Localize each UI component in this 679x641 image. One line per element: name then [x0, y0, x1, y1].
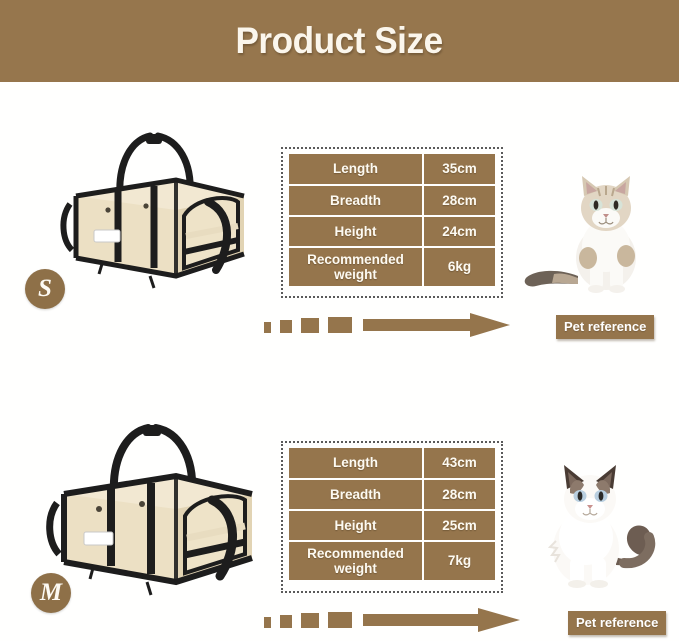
spec-value: 7kg [424, 542, 495, 580]
spec-label: Breadth [289, 480, 422, 509]
spec-value: 24cm [424, 217, 495, 246]
spec-label: Recommended weight [289, 542, 422, 580]
table-row: Recommended weight 7kg [289, 542, 495, 580]
table-row: Breadth 28cm [289, 480, 495, 509]
spec-value: 35cm [424, 154, 495, 184]
header-banner: Product Size [0, 0, 679, 82]
spec-label: Length [289, 448, 422, 478]
pet-reference-image-medium [520, 445, 670, 595]
spec-label: Breadth [289, 186, 422, 215]
table-row: Recommended weight 6kg [289, 248, 495, 286]
table-row: Height 24cm [289, 217, 495, 246]
page-title: Product Size [236, 20, 443, 62]
table-row: Breadth 28cm [289, 186, 495, 215]
spec-value: 28cm [424, 186, 495, 215]
spec-label: Recommended weight [289, 248, 422, 286]
spec-label: Height [289, 217, 422, 246]
size-growth-arrow-medium [262, 608, 562, 634]
table-row: Length 35cm [289, 154, 495, 184]
spec-value: 25cm [424, 511, 495, 540]
pet-reference-label-medium: Pet reference [568, 611, 666, 635]
table-row: Height 25cm [289, 511, 495, 540]
spec-value: 28cm [424, 480, 495, 509]
spec-label: Length [289, 154, 422, 184]
product-image-bag-medium [44, 408, 268, 603]
spec-value: 43cm [424, 448, 495, 478]
spec-table-small: Length 35cm Breadth 28cm Height 24cm Rec… [281, 147, 503, 298]
spec-value: 6kg [424, 248, 495, 286]
spec-label: Height [289, 511, 422, 540]
product-image-bag-small [58, 118, 258, 298]
pet-reference-label-small: Pet reference [556, 315, 654, 339]
table-row: Length 43cm [289, 448, 495, 478]
pet-reference-image-small [520, 150, 670, 300]
size-growth-arrow-small [262, 313, 552, 339]
spec-table-medium: Length 43cm Breadth 28cm Height 25cm Rec… [281, 441, 503, 593]
